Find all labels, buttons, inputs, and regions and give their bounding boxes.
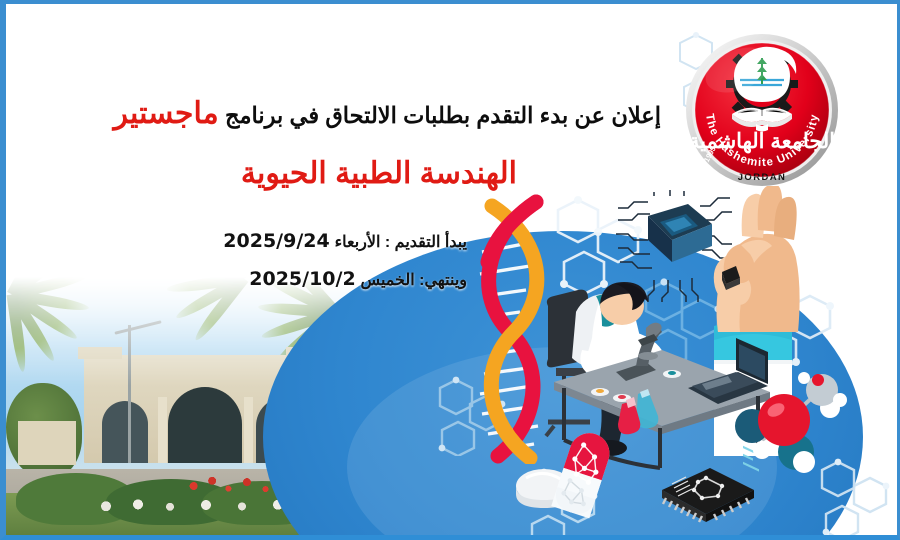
gate-pier-2 [244,397,253,463]
decorative-stones [94,499,294,511]
gate-arch-small-left [102,401,148,463]
university-logo: الجامعة الهاشمية The Hashemite Universit… [682,30,842,190]
gate-arch-center [168,387,242,463]
microchip-icon [646,456,766,534]
headline-degree: ماجستير [113,97,218,130]
date-end-label: وينتهي: الخميس [361,272,467,289]
date-start-label: يبدأ التقديم : الأربعاء [335,234,467,251]
street-lamp-pole [128,325,131,463]
gate-annex-building [18,421,76,465]
date-end-value: 2025/10/2 [249,268,355,290]
program-name: الهندسة الطبية الحيوية [17,156,517,191]
gate-pier-1 [158,397,167,463]
date-row-start: يبدأ التقديم : الأربعاء 2025/9/24 [17,230,467,252]
application-dates: يبدأ التقديم : الأربعاء 2025/9/24 وينتهي… [17,230,467,306]
headline-prefix: إعلان عن بدء التقدم بطلبات الالتحاق في ب… [225,103,661,128]
pill-capsule-icons [514,428,634,524]
date-start-value: 2025/9/24 [223,230,329,252]
headline: إعلان عن بدء التقدم بطلبات الالتحاق في ب… [21,96,661,131]
poster-canvas: إعلان عن بدء التقدم بطلبات الالتحاق في ب… [0,0,900,540]
date-row-end: وينتهي: الخميس 2025/10/2 [17,268,467,290]
